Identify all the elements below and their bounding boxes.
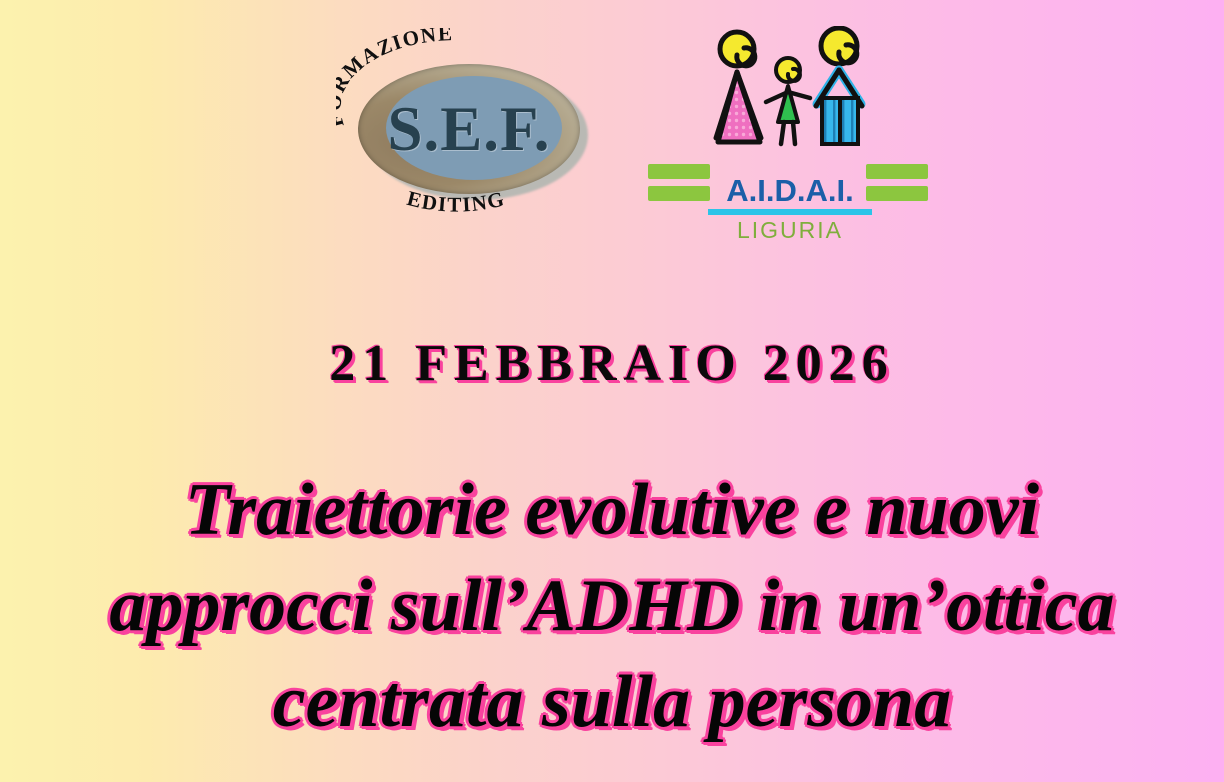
aidai-logo: A.I.D.A.I. LIGURIA [640,26,930,231]
event-date: 21 FEBBRAIO 2026 [0,334,1224,393]
aidai-region-text: LIGURIA [700,217,880,244]
child-figure [766,58,810,144]
logo-row: S.E.F. FORMAZIONE EDITING [0,0,1224,245]
aidai-underline-bar [708,209,872,215]
event-title-line-1: Traiettorie evolutive e nuovi [0,462,1224,558]
event-poster: S.E.F. FORMAZIONE EDITING [0,0,1224,782]
aidai-acronym-text: A.I.D.A.I. [700,174,880,208]
father-figure [816,28,862,144]
event-title-line-2: approcci sull’ADHD in un’ottica [0,558,1224,654]
event-title-line-3: centrata sulla persona [0,654,1224,750]
event-title: Traiettorie evolutive e nuovi approcci s… [0,462,1224,750]
aidai-family-figures [698,26,878,156]
sef-logo: S.E.F. FORMAZIONE EDITING [336,28,594,228]
sef-acronym-text: S.E.F. [358,86,580,172]
mother-figure [716,32,761,142]
